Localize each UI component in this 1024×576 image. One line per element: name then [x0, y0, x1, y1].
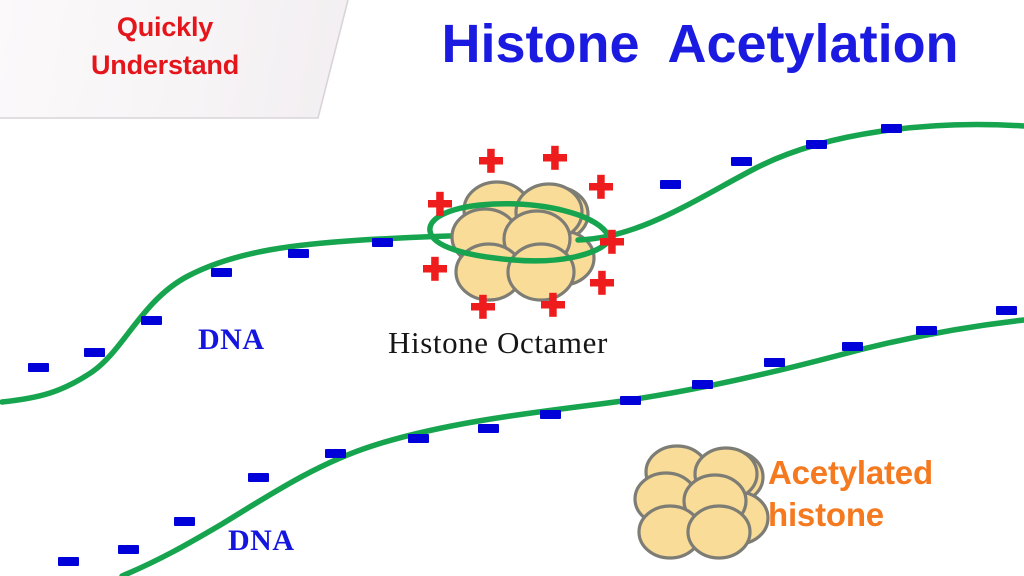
minus-charge [660, 180, 681, 189]
legend-line-2: histone [768, 494, 933, 536]
histone-octamer-main [452, 182, 594, 300]
histone-subunit [508, 244, 574, 300]
histone-subunit [688, 506, 750, 558]
slide-canvas: Quickly Understand Histone Acetylation [0, 0, 1024, 576]
minus-charge [372, 238, 393, 247]
histone-octamer-label: Histone Octamer [388, 326, 608, 360]
upper-dna-strand-right [578, 125, 1024, 240]
plus-charge [423, 257, 447, 281]
minus-charge [118, 545, 139, 554]
minus-charge [28, 363, 49, 372]
plus-charge [589, 175, 613, 199]
minus-charge [141, 316, 162, 325]
minus-charge [211, 268, 232, 277]
minus-charge [764, 358, 785, 367]
minus-charge [248, 473, 269, 482]
minus-charge [996, 306, 1017, 315]
minus-charge [288, 249, 309, 258]
minus-charge [692, 380, 713, 389]
minus-charge [408, 434, 429, 443]
minus-charge [842, 342, 863, 351]
minus-charge [620, 396, 641, 405]
dna-label-lower: DNA [228, 526, 295, 556]
minus-charge [84, 348, 105, 357]
minus-charge [174, 517, 195, 526]
minus-charge [58, 557, 79, 566]
histone-octamer-legend [635, 446, 768, 558]
legend-line-1: Acetylated [768, 454, 933, 491]
minus-charge [325, 449, 346, 458]
minus-charge [881, 124, 902, 133]
plus-charge [479, 149, 503, 173]
upper-dna-strand-left [2, 234, 520, 402]
plus-charge [543, 146, 567, 170]
minus-charge [540, 410, 561, 419]
dna-label-upper: DNA [198, 325, 265, 355]
minus-charge [731, 157, 752, 166]
minus-charge [806, 140, 827, 149]
acetylated-histone-label: Acetylated histone [768, 452, 933, 536]
minus-charge [916, 326, 937, 335]
minus-charge [478, 424, 499, 433]
plus-charge [590, 271, 614, 295]
